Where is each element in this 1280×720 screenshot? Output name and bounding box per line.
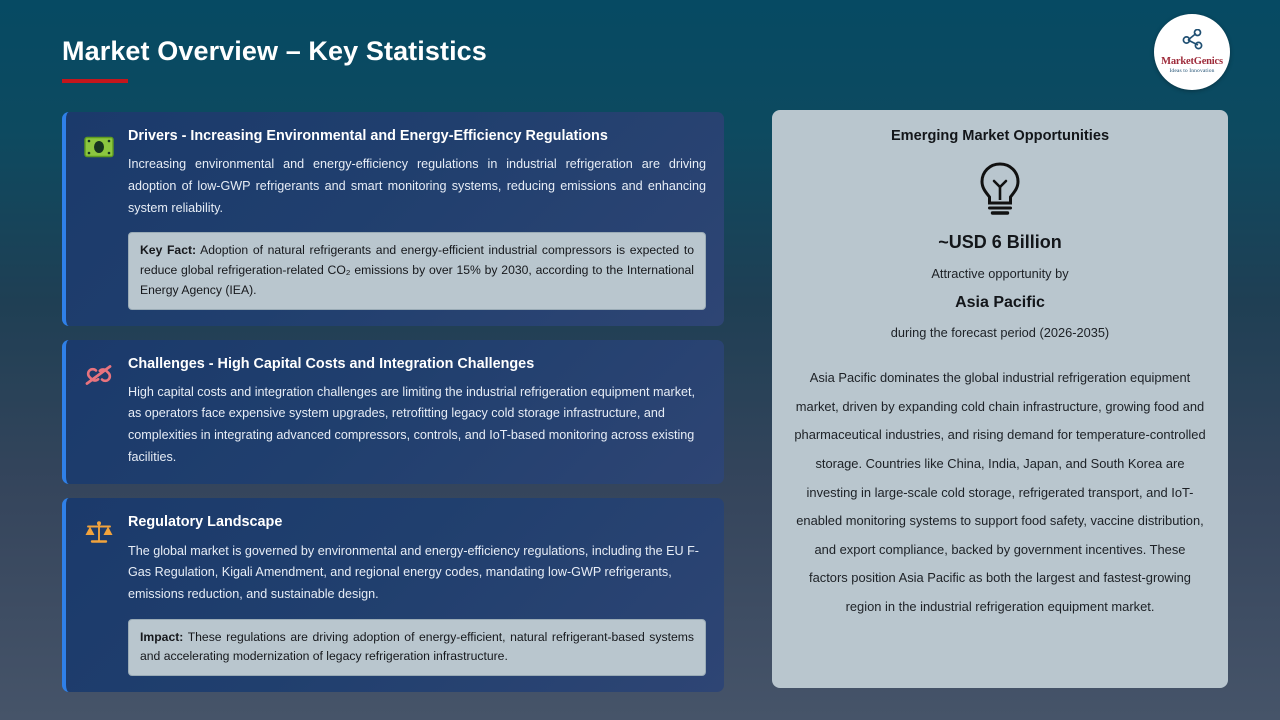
broken-link-icon (82, 358, 116, 392)
callout-text: Adoption of natural refrigerants and ene… (140, 243, 694, 297)
lightbulb-icon (794, 160, 1206, 218)
emerging-opportunity-panel: Emerging Market Opportunities ~USD 6 Bil… (772, 110, 1228, 688)
leading-region: Asia Pacific (794, 294, 1206, 312)
forecast-period: during the forecast period (2026-2035) (794, 325, 1206, 340)
card-heading: Challenges - High Capital Costs and Inte… (128, 356, 706, 373)
slide-header: Market Overview – Key Statistics (62, 36, 487, 83)
panel-description: Asia Pacific dominates the global indust… (794, 364, 1206, 622)
logo-wordmark: MarketGenics (1161, 57, 1223, 68)
callout-label: Impact: (140, 630, 183, 644)
brand-logo: MarketGenics Ideas to Innovation (1154, 14, 1230, 90)
balance-scales-icon (82, 516, 116, 550)
impact-callout: Impact: These regulations are driving ad… (128, 619, 706, 677)
insight-card-drivers[interactable]: Drivers - Increasing Environmental and E… (62, 112, 724, 326)
title-underline-rule (62, 79, 128, 83)
card-paragraph: The global market is governed by environ… (128, 541, 706, 606)
card-heading: Regulatory Landscape (128, 514, 706, 531)
panel-title: Emerging Market Opportunities (794, 128, 1206, 144)
insight-card-list: Drivers - Increasing Environmental and E… (62, 112, 724, 706)
card-paragraph: High capital costs and integration chall… (128, 382, 706, 469)
page-title: Market Overview – Key Statistics (62, 36, 487, 67)
logo-tagline: Ideas to Innovation (1169, 67, 1214, 75)
banknote-icon (82, 130, 116, 164)
market-value: ~USD 6 Billion (794, 232, 1206, 253)
callout-text: These regulations are driving adoption o… (140, 630, 694, 664)
insight-card-challenges[interactable]: Challenges - High Capital Costs and Inte… (62, 340, 724, 485)
opportunity-subtitle: Attractive opportunity by (794, 266, 1206, 281)
insight-card-regulatory[interactable]: Regulatory Landscape The global market i… (62, 498, 724, 692)
network-nodes-icon (1179, 29, 1205, 56)
card-heading: Drivers - Increasing Environmental and E… (128, 128, 706, 145)
key-fact-callout: Key Fact: Adoption of natural refrigeran… (128, 232, 706, 309)
callout-label: Key Fact: (140, 243, 196, 257)
card-paragraph: Increasing environmental and energy-effi… (128, 154, 706, 219)
